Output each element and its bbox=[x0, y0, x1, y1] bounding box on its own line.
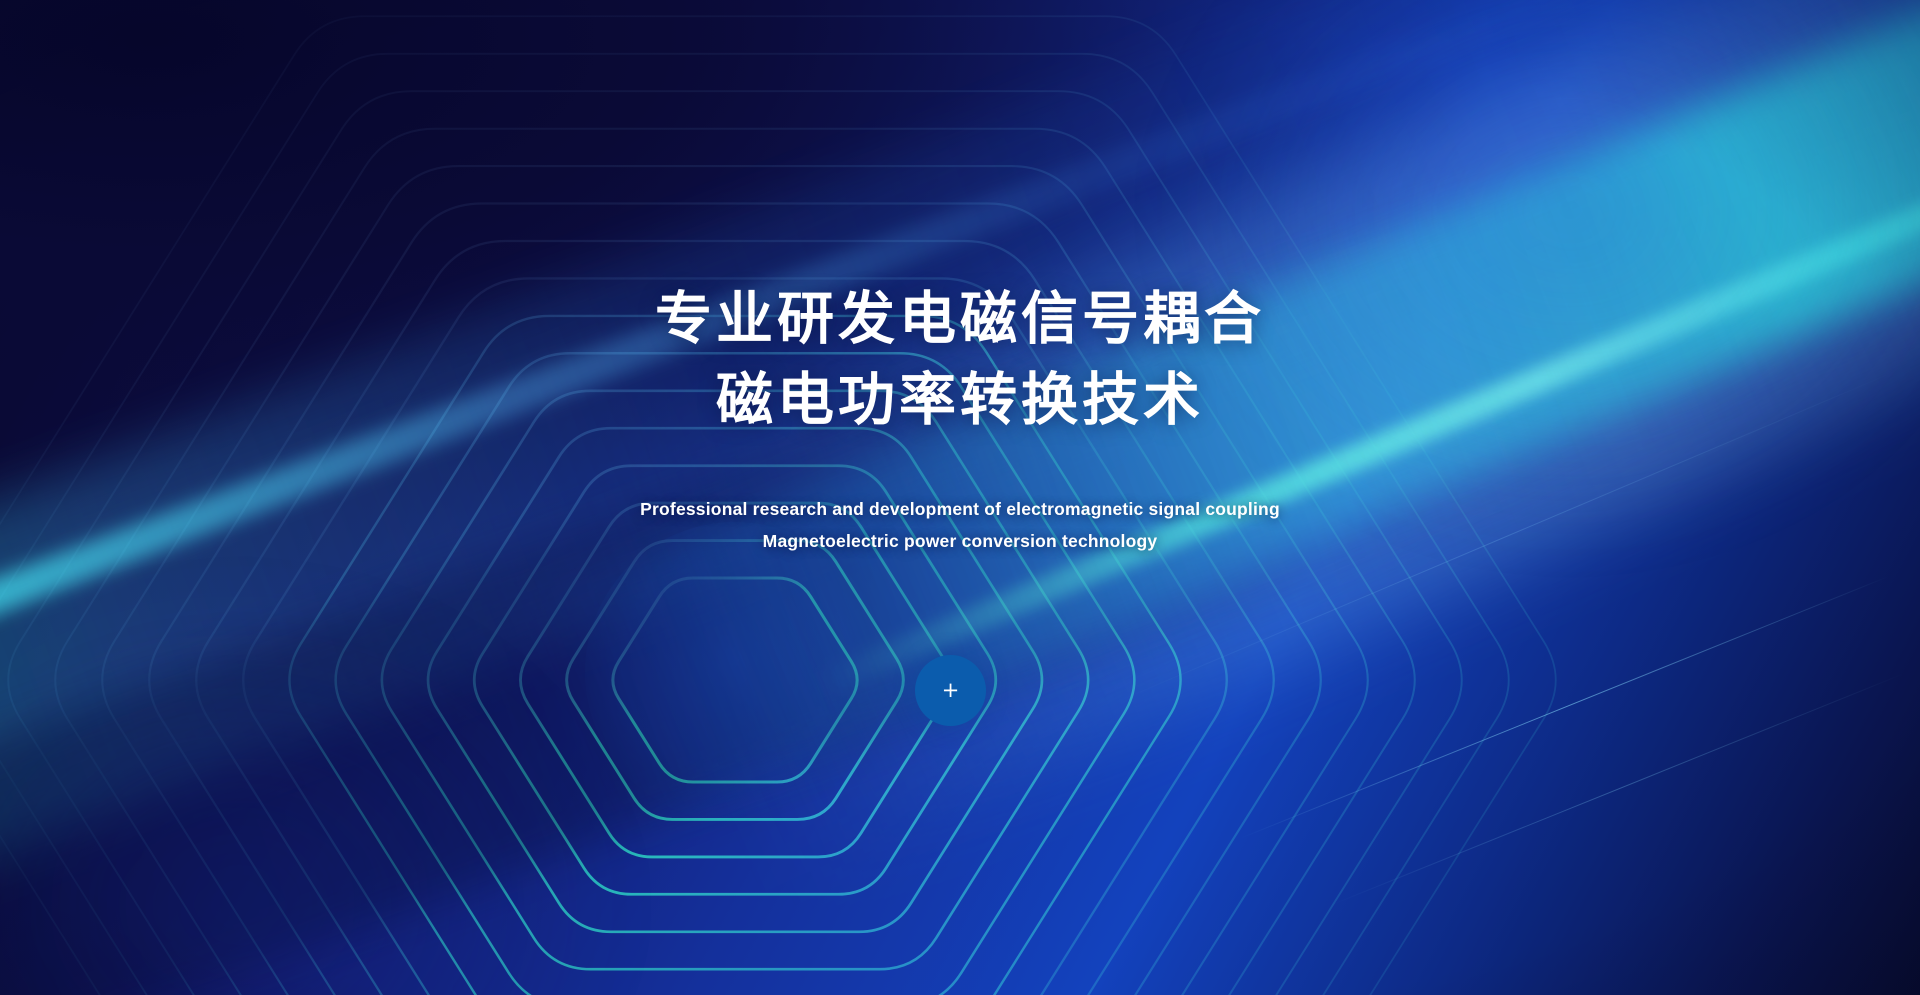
subtitle-line-1: Professional research and development of… bbox=[0, 501, 1920, 519]
hairline-1 bbox=[1240, 576, 1889, 839]
plus-icon: + bbox=[942, 680, 960, 701]
glow-top-right bbox=[1020, 0, 1920, 660]
hairline-3 bbox=[1120, 372, 1894, 701]
vignette-overlay bbox=[0, 0, 1920, 995]
beam-wide-right bbox=[511, 0, 1920, 840]
beam-wide-lower bbox=[0, 0, 1920, 995]
hexagon-ring-pattern bbox=[0, 0, 1920, 995]
beam-core-right bbox=[815, 87, 1920, 697]
headline-line-2: 磁电功率转换技术 bbox=[0, 372, 1920, 429]
beam-core-lower bbox=[0, 0, 1920, 879]
beam-shadow-wedge bbox=[0, 118, 1807, 995]
glow-bottom-left bbox=[0, 495, 740, 995]
hero-banner: 专业研发电磁信号耦合 磁电功率转换技术 Professional researc… bbox=[0, 0, 1920, 995]
subtitle-line-2: Magnetoelectric power conversion technol… bbox=[0, 533, 1920, 551]
headline-line-1: 专业研发电磁信号耦合 bbox=[0, 291, 1920, 348]
expand-plus-button[interactable]: + bbox=[915, 655, 986, 726]
hairline-2 bbox=[1330, 673, 1905, 906]
light-beams bbox=[0, 0, 1920, 995]
beam-pale-sheet bbox=[613, 0, 1920, 881]
